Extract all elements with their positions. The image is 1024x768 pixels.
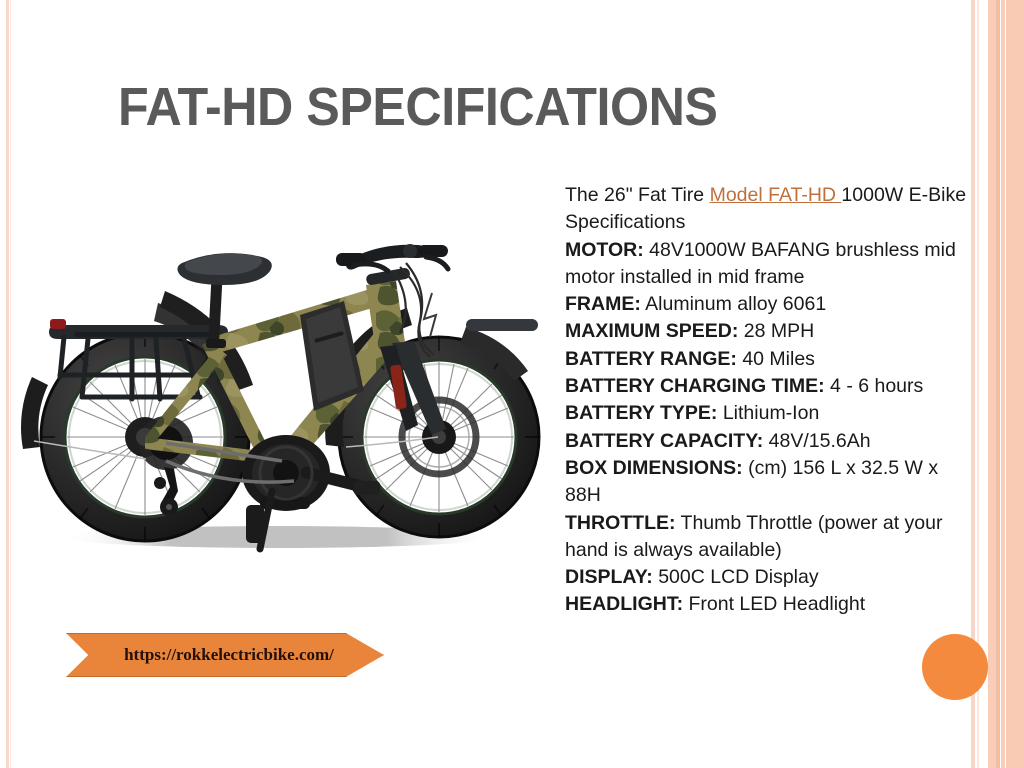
spec-value-display: 500C LCD Display <box>653 566 819 588</box>
right-accent-bar-6 <box>1006 0 1024 768</box>
spec-label-headlight: HEADLIGHT: <box>565 593 683 615</box>
spec-label-motor: MOTOR: <box>565 239 644 261</box>
model-fat-hd-link[interactable]: Model FAT-HD <box>710 184 842 206</box>
spec-label-maximum-speed: MAXIMUM SPEED: <box>565 320 738 342</box>
website-url-text[interactable]: https://rokkelectricbike.com/ <box>66 633 384 677</box>
spec-intro-before: The 26" Fat Tire <box>565 184 710 206</box>
right-accent-bar-4 <box>996 0 1000 768</box>
specifications-text: The 26" Fat Tire Model FAT-HD 1000W E-Bi… <box>565 182 973 619</box>
spec-value-battery-capacity: 48V/15.6Ah <box>763 430 870 452</box>
spec-label-battery-range: BATTERY RANGE: <box>565 348 737 370</box>
spec-label-battery-charging-time: BATTERY CHARGING TIME: <box>565 375 825 397</box>
website-url-banner[interactable]: https://rokkelectricbike.com/ <box>66 633 384 677</box>
right-accent-bar-3 <box>988 0 996 768</box>
slide-canvas: FAT-HD SPECIFICATIONS <box>0 0 1024 768</box>
spec-value-headlight: Front LED Headlight <box>683 593 865 615</box>
page-title: FAT-HD SPECIFICATIONS <box>118 78 862 136</box>
spec-label-battery-type: BATTERY TYPE: <box>565 402 717 424</box>
spec-value-battery-range: 40 Miles <box>737 348 815 370</box>
right-accent-bar-5 <box>1001 0 1005 768</box>
spec-value-battery-charging-time: 4 - 6 hours <box>825 375 924 397</box>
spec-label-frame: FRAME: <box>565 293 641 315</box>
spec-value-battery-type: Lithium-Ion <box>717 402 819 424</box>
spec-label-box-dimensions: BOX DIMENSIONS: <box>565 457 743 479</box>
orange-accent-circle <box>922 634 988 700</box>
left-accent-bar <box>6 0 9 768</box>
spec-label-throttle: THROTTLE: <box>565 512 675 534</box>
spec-value-frame: Aluminum alloy 6061 <box>641 293 826 315</box>
spec-label-battery-capacity: BATTERY CAPACITY: <box>565 430 763 452</box>
left-accent-hairline <box>10 0 11 768</box>
product-image-bicycle <box>14 215 544 575</box>
spec-value-maximum-speed: 28 MPH <box>738 320 814 342</box>
spec-label-display: DISPLAY: <box>565 566 653 588</box>
